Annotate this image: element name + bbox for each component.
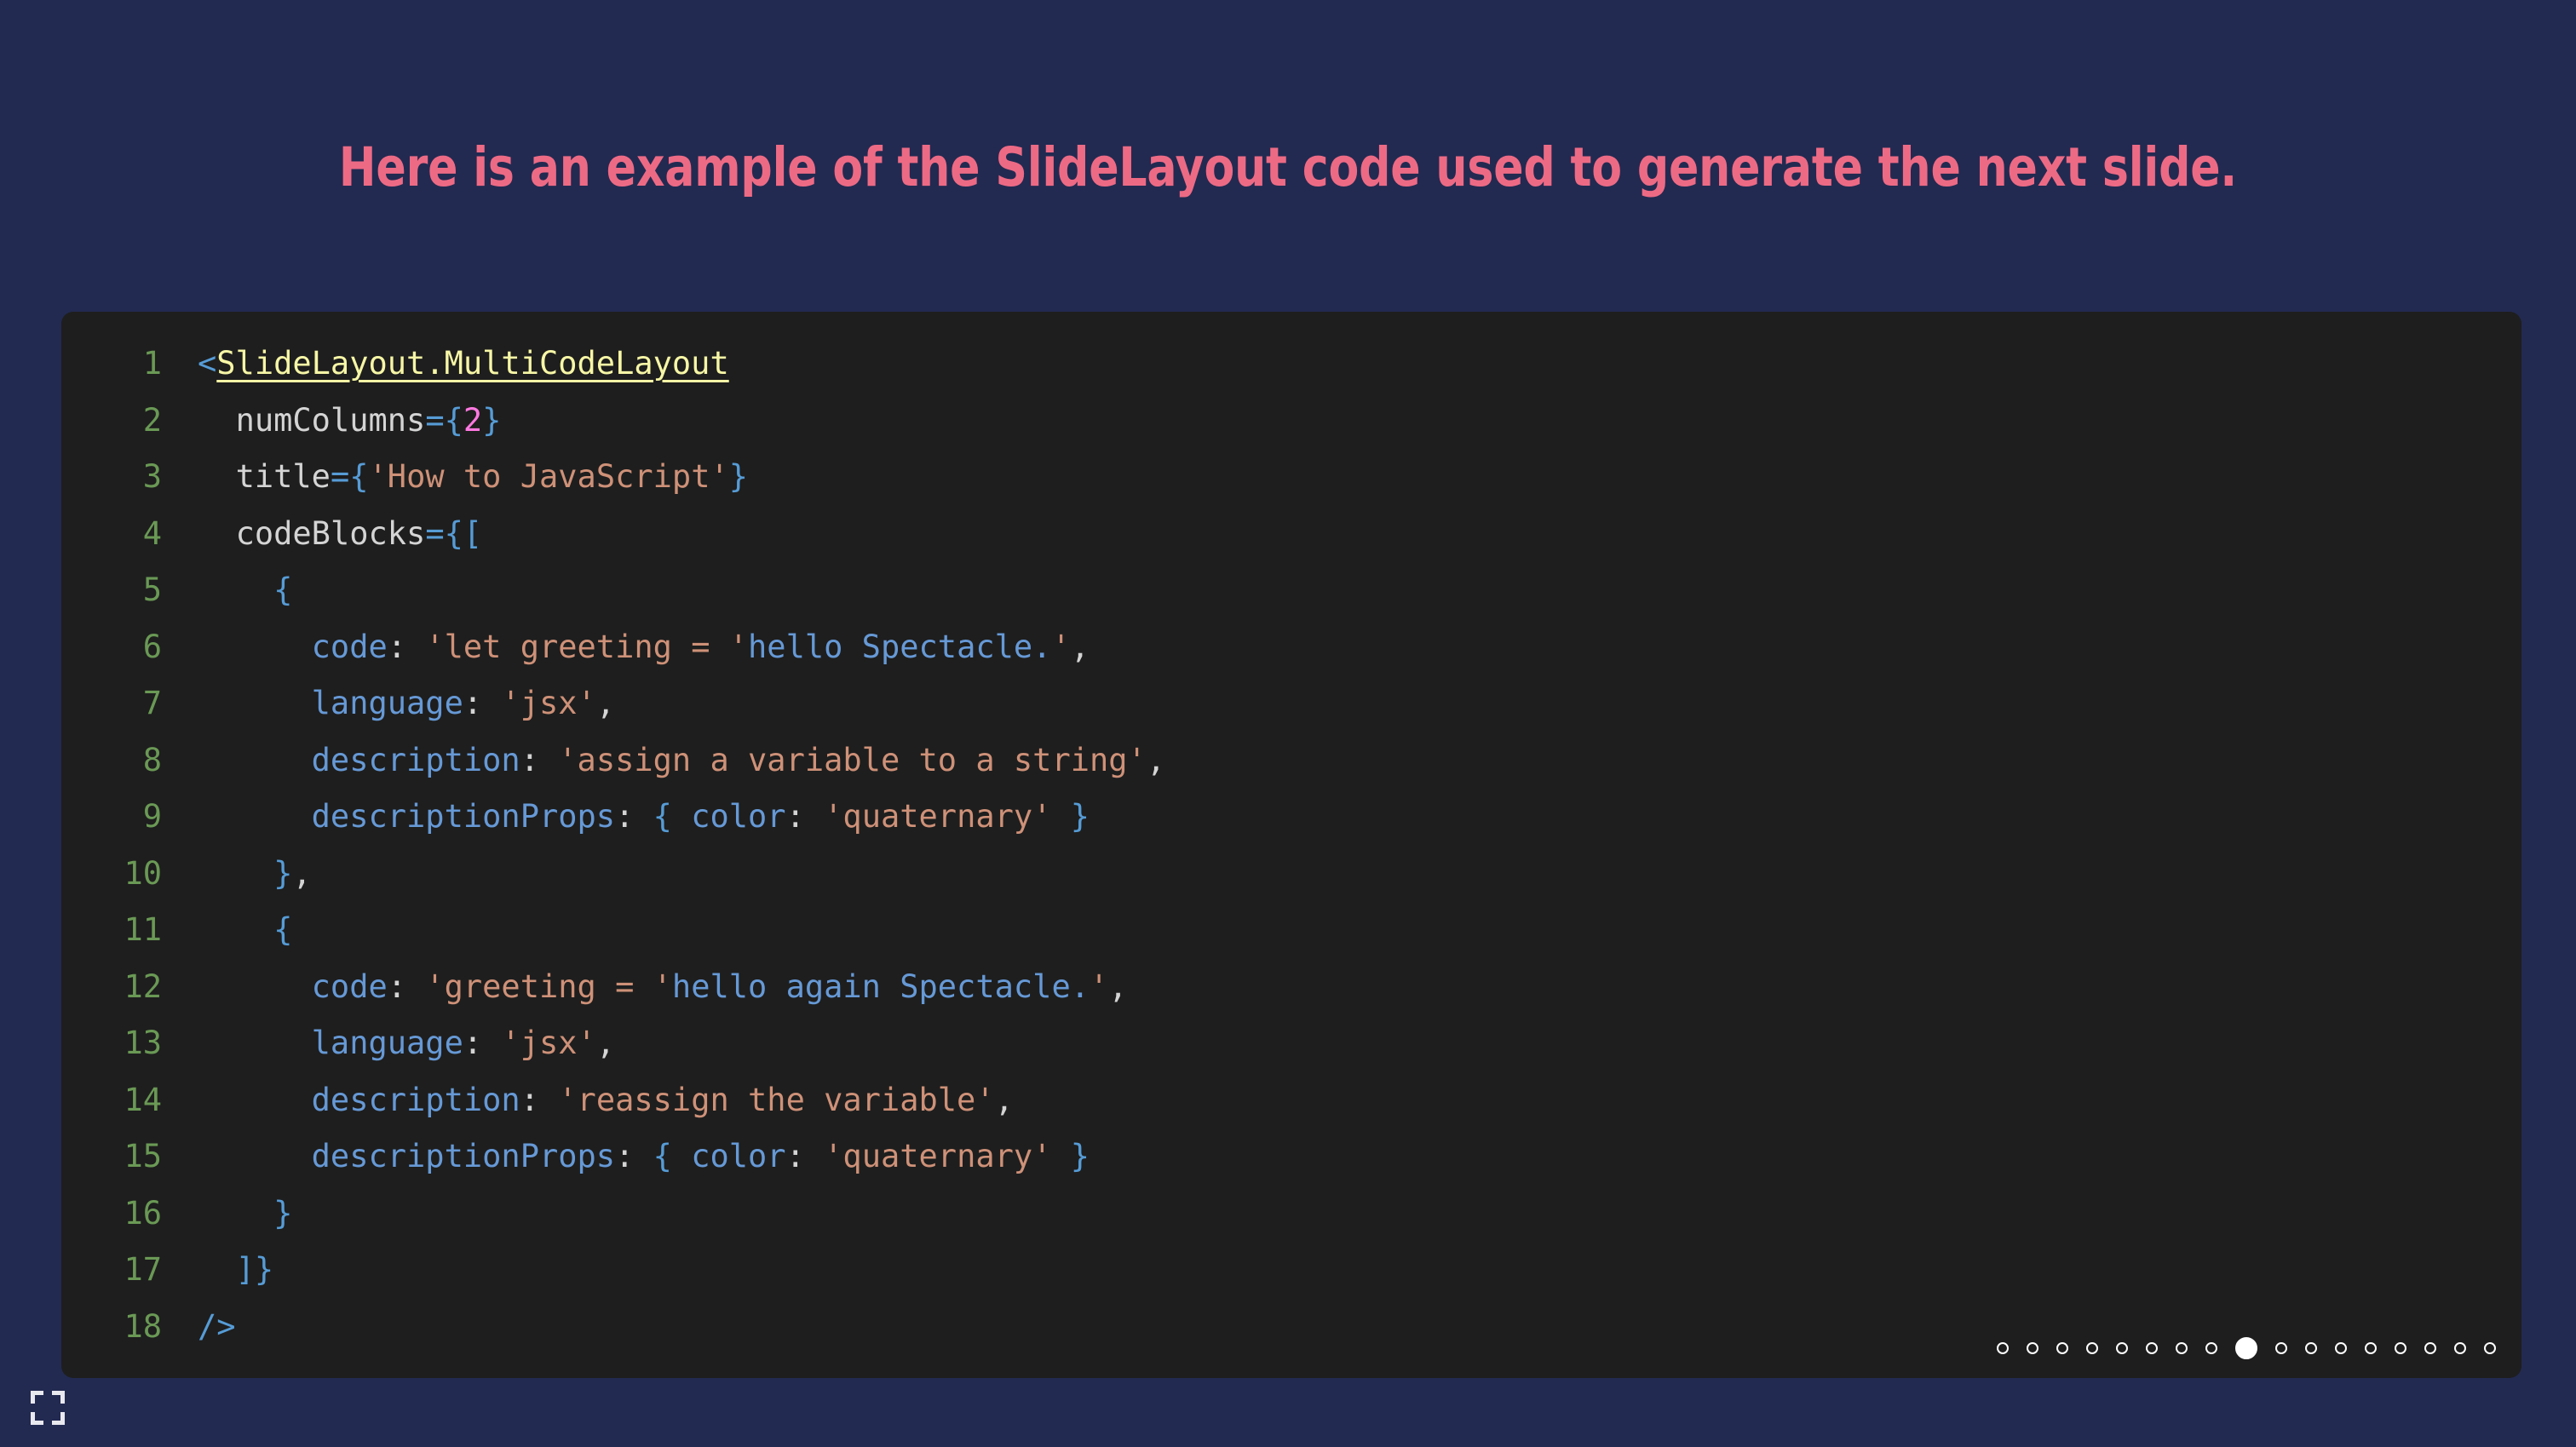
pagination-dot[interactable] <box>2027 1342 2038 1354</box>
pagination-dot[interactable] <box>2176 1342 2188 1354</box>
code-token <box>1051 798 1070 835</box>
code-token: } <box>273 855 292 892</box>
code-token: descriptionProps <box>312 1138 615 1174</box>
code-token: language <box>312 1025 463 1061</box>
code-token <box>672 798 691 835</box>
line-number: 5 <box>61 562 162 619</box>
code-token: hello again Spectacle. <box>672 968 1090 1005</box>
code-token <box>672 1138 691 1174</box>
pagination-dot[interactable] <box>2484 1342 2496 1354</box>
pagination-dot[interactable] <box>2116 1342 2128 1354</box>
code-token: codeBlocks <box>236 515 426 552</box>
code-lines-container: 1<SlideLayout.MultiCodeLayout2 numColumn… <box>61 336 2521 1355</box>
code-token: hello Spectacle. <box>748 629 1051 665</box>
code-token <box>198 1251 236 1288</box>
code-line: 12 code: 'greeting = 'hello again Specta… <box>61 959 2521 1016</box>
code-token: , <box>1108 968 1127 1005</box>
fullscreen-icon[interactable] <box>31 1391 65 1425</box>
code-token: { <box>273 911 292 948</box>
line-number: 18 <box>61 1299 162 1356</box>
code-block-panel: 1<SlideLayout.MultiCodeLayout2 numColumn… <box>61 312 2521 1378</box>
code-token <box>198 911 273 948</box>
code-token: } <box>273 1195 292 1232</box>
code-token: description <box>312 1082 520 1118</box>
code-token: 'let greeting = ' <box>425 629 748 665</box>
code-token: : <box>388 629 426 665</box>
line-number: 16 <box>61 1186 162 1243</box>
code-line: 17 ]} <box>61 1242 2521 1299</box>
code-token: 'quaternary' <box>824 1138 1051 1174</box>
code-token: : <box>615 798 653 835</box>
fullscreen-corner-bottom-right <box>52 1412 65 1425</box>
line-number: 6 <box>61 619 162 676</box>
pagination-dot[interactable] <box>2205 1342 2217 1354</box>
line-number: 12 <box>61 959 162 1016</box>
code-token: : <box>520 1082 559 1118</box>
pagination-dot[interactable] <box>2305 1342 2317 1354</box>
code-token: } <box>1071 798 1090 835</box>
code-token: { <box>273 571 292 608</box>
pagination-dot[interactable] <box>2146 1342 2158 1354</box>
line-number: 11 <box>61 902 162 959</box>
code-line: 9 descriptionProps: { color: 'quaternary… <box>61 789 2521 846</box>
presentation-slide: Here is an example of the SlideLayout co… <box>0 0 2576 1447</box>
code-token <box>198 1138 312 1174</box>
code-token <box>198 571 273 608</box>
code-token: : <box>786 1138 825 1174</box>
line-number: 3 <box>61 449 162 506</box>
code-token: : <box>463 685 502 721</box>
code-token <box>1051 1138 1070 1174</box>
code-token: < <box>198 345 216 382</box>
code-token <box>198 855 273 892</box>
line-number: 14 <box>61 1072 162 1129</box>
code-token: , <box>1071 629 1090 665</box>
page-title: Here is an example of the SlideLayout co… <box>103 136 2473 198</box>
code-token: /> <box>198 1308 236 1345</box>
code-token: , <box>1147 742 1165 778</box>
line-number: 2 <box>61 393 162 450</box>
pagination-dot[interactable] <box>2395 1342 2406 1354</box>
code-token: , <box>596 685 615 721</box>
code-token: 'How to JavaScript' <box>369 458 729 495</box>
code-token: , <box>292 855 311 892</box>
code-token: ' <box>1090 968 1108 1005</box>
code-token: 'jsx' <box>501 685 595 721</box>
code-line: 3 title={'How to JavaScript'} <box>61 449 2521 506</box>
code-token <box>198 1195 273 1232</box>
code-token <box>198 515 236 552</box>
fullscreen-corner-top-right <box>52 1391 65 1404</box>
code-line: 16 } <box>61 1186 2521 1243</box>
code-token: , <box>995 1082 1014 1118</box>
pagination-dot[interactable] <box>2275 1342 2287 1354</box>
code-line: 2 numColumns={2} <box>61 393 2521 450</box>
code-token: description <box>312 742 520 778</box>
code-line: 10 }, <box>61 846 2521 903</box>
pagination-dot[interactable] <box>2056 1342 2068 1354</box>
code-token: color <box>691 798 785 835</box>
line-number: 7 <box>61 675 162 732</box>
code-token <box>198 798 312 835</box>
code-token: 'greeting = ' <box>425 968 672 1005</box>
code-line: 11 { <box>61 902 2521 959</box>
line-number: 1 <box>61 336 162 393</box>
code-token <box>198 1025 312 1061</box>
code-token: } <box>1071 1138 1090 1174</box>
code-token <box>198 968 312 1005</box>
code-token: code <box>312 968 388 1005</box>
code-token: 'quaternary' <box>824 798 1051 835</box>
code-token <box>198 1082 312 1118</box>
line-number: 15 <box>61 1128 162 1186</box>
code-token: language <box>312 685 463 721</box>
code-token: descriptionProps <box>312 798 615 835</box>
code-token <box>198 685 312 721</box>
code-token: title <box>236 458 331 495</box>
code-token: ]} <box>236 1251 274 1288</box>
code-token <box>198 742 312 778</box>
code-token: color <box>691 1138 785 1174</box>
pagination-dot[interactable] <box>2424 1342 2436 1354</box>
code-line: 5 { <box>61 562 2521 619</box>
code-token: { <box>349 458 368 495</box>
code-line: 14 description: 'reassign the variable', <box>61 1072 2521 1129</box>
code-token: SlideLayout.MultiCodeLayout <box>216 345 728 382</box>
code-token <box>198 629 312 665</box>
code-token <box>198 458 236 495</box>
code-token: numColumns <box>236 402 426 439</box>
pagination-dot[interactable] <box>1997 1342 2009 1354</box>
pagination-dot[interactable] <box>2335 1342 2347 1354</box>
code-line: 7 language: 'jsx', <box>61 675 2521 732</box>
code-token: : <box>388 968 426 1005</box>
code-token: {[ <box>445 515 483 552</box>
code-token: : <box>615 1138 653 1174</box>
code-line: 1<SlideLayout.MultiCodeLayout <box>61 336 2521 393</box>
code-line: 13 language: 'jsx', <box>61 1015 2521 1072</box>
code-token: 'jsx' <box>501 1025 595 1061</box>
line-number: 10 <box>61 846 162 903</box>
code-token: : <box>786 798 825 835</box>
code-line: 15 descriptionProps: { color: 'quaternar… <box>61 1128 2521 1186</box>
code-token: 2 <box>463 402 482 439</box>
line-number: 17 <box>61 1242 162 1299</box>
code-token: { <box>653 1138 672 1174</box>
code-token: = <box>425 402 444 439</box>
code-token: = <box>331 458 349 495</box>
line-number: 4 <box>61 506 162 563</box>
code-token: ' <box>1051 629 1070 665</box>
code-line: 4 codeBlocks={[ <box>61 506 2521 563</box>
code-token: : <box>520 742 559 778</box>
pagination-dot[interactable] <box>2365 1342 2377 1354</box>
line-number: 8 <box>61 732 162 790</box>
code-token: } <box>482 402 501 439</box>
code-token: 'assign a variable to a string' <box>558 742 1147 778</box>
code-line: 8 description: 'assign a variable to a s… <box>61 732 2521 790</box>
code-token: } <box>729 458 748 495</box>
pagination-dot[interactable] <box>2454 1342 2466 1354</box>
code-token: code <box>312 629 388 665</box>
line-number: 13 <box>61 1015 162 1072</box>
code-token <box>198 402 236 439</box>
fullscreen-corner-top-left <box>31 1391 43 1404</box>
code-token: 'reassign the variable' <box>558 1082 994 1118</box>
line-number: 9 <box>61 789 162 846</box>
pagination-dot[interactable] <box>2086 1342 2098 1354</box>
code-token: , <box>596 1025 615 1061</box>
code-token: : <box>463 1025 502 1061</box>
code-token: { <box>445 402 463 439</box>
pagination-dot-active[interactable] <box>2235 1337 2257 1359</box>
fullscreen-corner-bottom-left <box>31 1412 43 1425</box>
code-token: { <box>653 798 672 835</box>
code-token: = <box>425 515 444 552</box>
code-line: 6 code: 'let greeting = 'hello Spectacle… <box>61 619 2521 676</box>
pagination-dots[interactable] <box>1997 1337 2496 1359</box>
